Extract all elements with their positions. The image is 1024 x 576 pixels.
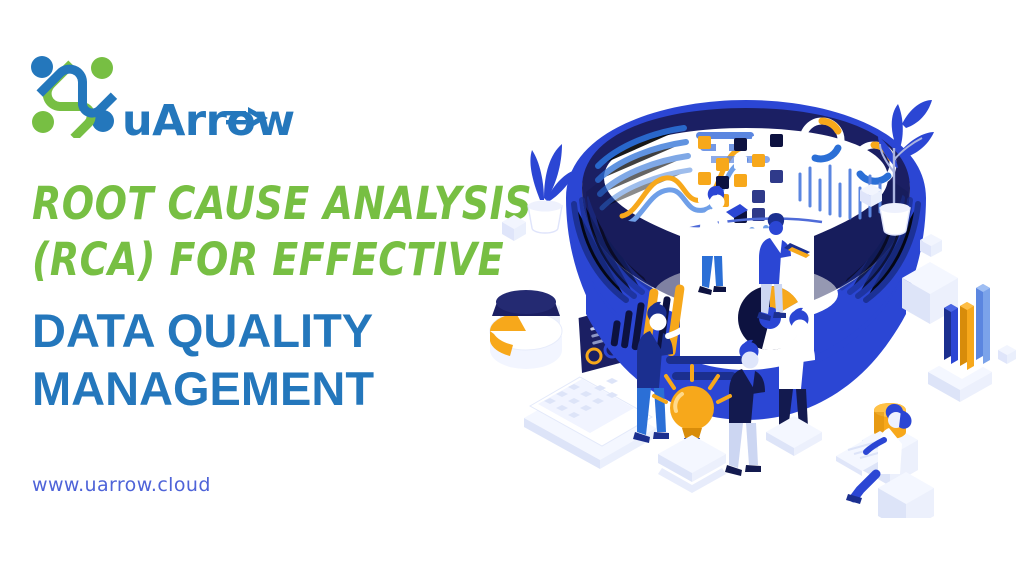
headline-line-4: MANAGEMENT [32,360,502,418]
page-title: ROOT CAUSE ANALYSIS (RCA) FOR EFFECTIVE … [32,176,502,418]
banner-canvas: uArrow ROOT CAUSE ANALYSIS (RCA) FOR EFF… [0,0,1024,576]
headline-line-2: (RCA) FOR EFFECTIVE [32,232,474,288]
brand-logo[interactable]: uArrow [28,48,278,140]
3d-pie-chart [490,290,562,369]
curved-dashboard-cylinder [566,100,926,420]
headline-line-1: ROOT CAUSE ANALYSIS [32,176,474,232]
dot-indicators [735,225,769,235]
brand-name: uArrow [122,100,295,143]
interlocking-links-logo-icon [28,50,120,138]
bar-navy [944,304,958,364]
bar-lightblue [976,284,990,364]
bar-orange [960,302,974,370]
isometric-data-dashboard-illustration [470,88,1024,518]
floating-cube-far-right [998,345,1016,364]
headline-line-3: DATA QUALITY [32,302,502,360]
floating-cube-right-mid [920,234,942,257]
site-url[interactable]: www.uarrow.cloud [32,474,211,496]
floating-cube-small-left [502,215,526,241]
